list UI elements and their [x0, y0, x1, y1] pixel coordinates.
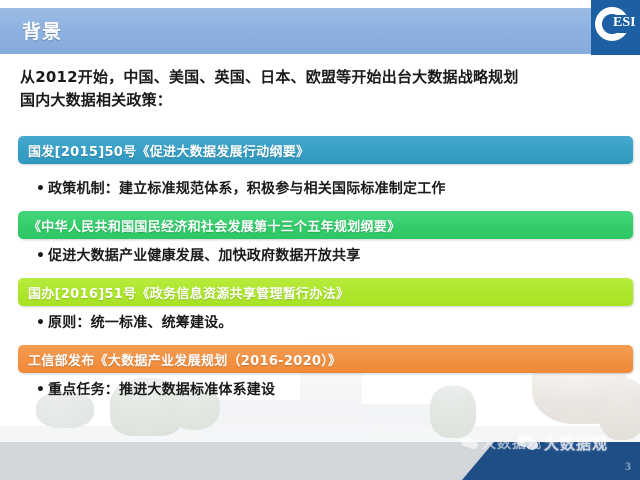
lead-paragraph: 从2012开始，中国、美国、英国、日本、欧盟等开始出台大数据战略规划 国内大数据… — [20, 66, 630, 112]
policy-bullet-2-text: 促进大数据产业健康发展、加快政府数据开放共享 — [48, 248, 360, 264]
policy-bar-3-label: 国办[2016]51号《政务信息资源共享管理暂行办法》 — [28, 283, 349, 302]
bullet-dot-icon: • — [36, 181, 48, 197]
bullet-dot-icon: • — [36, 315, 48, 331]
policy-bullet-1-text: 政策机制：建立标准规范体系，积极参与相关国际标准制定工作 — [48, 181, 446, 197]
wechat-bubble-icon — [517, 434, 539, 452]
policy-bar-2-label: 《中华人民共和国国民经济和社会发展第十三个五年规划纲要》 — [28, 216, 400, 235]
policy-bar-4: 工信部发布《大数据产业发展规划（2016-2020）》 — [18, 345, 633, 373]
policy-bullet-3-text: 原则：统一标准、统筹建设。 — [48, 315, 233, 331]
wechat-bubble-icon — [461, 436, 479, 451]
bullet-dot-icon: • — [36, 248, 48, 264]
page-number: 3 — [625, 459, 631, 474]
page-title: 背景 — [22, 17, 62, 44]
policy-bullet-2: •促进大数据产业健康发展、加快政府数据开放共享 — [36, 245, 626, 265]
wechat-bubble-small — [468, 441, 478, 449]
cesi-logo-mark: ESI — [591, 0, 640, 55]
slide-canvas: 背景 ESI 从2012开始，中国、美国、英国、日本、欧盟等开始出台大数据战略规… — [0, 0, 640, 480]
policy-bar-1: 国发[2015]50号《促进大数据发展行动纲要》 — [18, 136, 633, 164]
policy-bar-4-label: 工信部发布《大数据产业发展规划（2016-2020）》 — [28, 350, 341, 369]
slide-header-bar — [0, 8, 640, 54]
cesi-logo: ESI — [591, 0, 640, 55]
lead-line-2: 国内大数据相关政策： — [20, 89, 630, 112]
policy-bullet-1: •政策机制：建立标准规范体系，积极参与相关国际标准制定工作 — [36, 178, 626, 198]
policy-bullet-4: •重点任务：推进大数据标准体系建设 — [36, 379, 626, 399]
policy-bar-3: 国办[2016]51号《政务信息资源共享管理暂行办法》 — [18, 278, 633, 306]
wechat-watermark: 大数据观 — [517, 432, 608, 454]
policy-bar-1-label: 国发[2015]50号《促进大数据发展行动纲要》 — [28, 141, 309, 160]
logo-esi-text: ESI — [613, 16, 636, 30]
wechat-bubble-small — [526, 440, 538, 450]
lead-line-1: 从2012开始，中国、美国、英国、日本、欧盟等开始出台大数据战略规划 — [20, 66, 630, 89]
policy-bar-2: 《中华人民共和国国民经济和社会发展第十三个五年规划纲要》 — [18, 211, 633, 239]
bullet-dot-icon: • — [36, 382, 48, 398]
policy-bullet-4-text: 重点任务：推进大数据标准体系建设 — [48, 382, 275, 398]
policy-bullet-3: •原则：统一标准、统筹建设。 — [36, 312, 626, 332]
wechat-watermark-text: 大数据观 — [544, 433, 608, 454]
